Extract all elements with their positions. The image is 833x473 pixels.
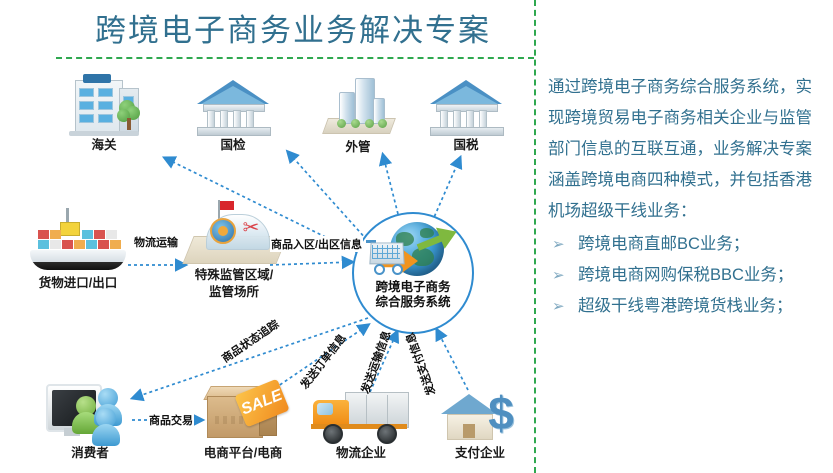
node-cargo[interactable]: 货物进口/出口 <box>26 208 130 291</box>
skyscraper-icon <box>321 80 395 138</box>
arrow-bullet-icon: ➢ <box>552 229 565 260</box>
office-building-icon <box>67 74 141 136</box>
list-item-label: 超级干线粤港跨境货栈业务； <box>578 297 793 315</box>
arrow-bullet-icon: ➢ <box>552 291 565 322</box>
classical-building-icon <box>195 78 271 136</box>
node-consumer[interactable]: 消费者 <box>42 382 138 461</box>
truck-icon <box>311 386 411 444</box>
list-item: ➢ 跨境电商直邮BC业务； <box>548 229 826 260</box>
node-payment[interactable]: $ 支付企业 <box>432 386 528 461</box>
connector-label-zone-goods-info: 商品入区/出区信息 <box>270 236 363 252</box>
slide-canvas: 跨境电子商务业务解决专案 <box>0 0 833 473</box>
node-label: 支付企业 <box>432 446 528 461</box>
node-label: 消费者 <box>42 446 138 461</box>
container-ship-icon <box>30 208 126 274</box>
hub-label: 跨境电子商务 综合服务系统 <box>354 280 472 310</box>
node-ciq[interactable]: 国检 <box>185 78 281 153</box>
payment-house-icon: $ <box>439 386 521 444</box>
description-panel: 通过跨境电子商务综合服务系统，实现跨境贸易电子商务相关企业与监管部门信息的互联互… <box>548 72 826 322</box>
node-label: 物流企业 <box>308 446 414 461</box>
classical-building-icon <box>428 78 504 136</box>
supervision-zone-icon: ✂ <box>188 200 280 266</box>
node-tax[interactable]: 国税 <box>418 78 514 153</box>
connector-label-goods-trade: 商品交易 <box>148 412 194 428</box>
description-paragraph: 通过跨境电子商务综合服务系统，实现跨境贸易电子商务相关企业与监管部门信息的互联互… <box>548 72 826 227</box>
shopping-cart-icon <box>366 240 406 272</box>
list-item: ➢ 跨境电商网购保税BBC业务； <box>548 260 826 291</box>
node-label-2: 监管场所 <box>180 285 288 300</box>
dollar-icon: $ <box>483 388 519 438</box>
node-safe[interactable]: 外管 <box>310 80 406 155</box>
node-customs[interactable]: 海关 <box>56 74 152 153</box>
node-label: 国检 <box>185 138 281 153</box>
node-label: 海关 <box>56 138 152 153</box>
node-label: 外管 <box>310 140 406 155</box>
node-logistics[interactable]: 物流企业 <box>308 386 414 461</box>
hub-cbec-service-system[interactable]: 跨境电子商务 综合服务系统 <box>352 212 474 334</box>
node-label: 电商平台/电商 <box>190 446 296 461</box>
list-item-label: 跨境电商直邮BC业务； <box>578 235 749 253</box>
node-label: 国税 <box>418 138 514 153</box>
business-mode-list: ➢ 跨境电商直邮BC业务； ➢ 跨境电商网购保税BBC业务； ➢ 超级干线粤港跨… <box>548 229 826 322</box>
arrow-bullet-icon: ➢ <box>552 260 565 291</box>
list-item-label: 跨境电商网购保税BBC业务； <box>578 266 793 284</box>
node-label: 货物进口/出口 <box>26 276 130 291</box>
node-ecommerce[interactable]: SALE 电商平台/电商 <box>190 382 296 461</box>
node-label: 特殊监管区域/ <box>180 268 288 283</box>
connector-label-logistics-transport: 物流运输 <box>133 234 179 250</box>
consumers-icon <box>46 382 134 444</box>
list-item: ➢ 超级干线粤港跨境货栈业务； <box>548 291 826 322</box>
sale-parcel-icon: SALE <box>199 382 287 444</box>
